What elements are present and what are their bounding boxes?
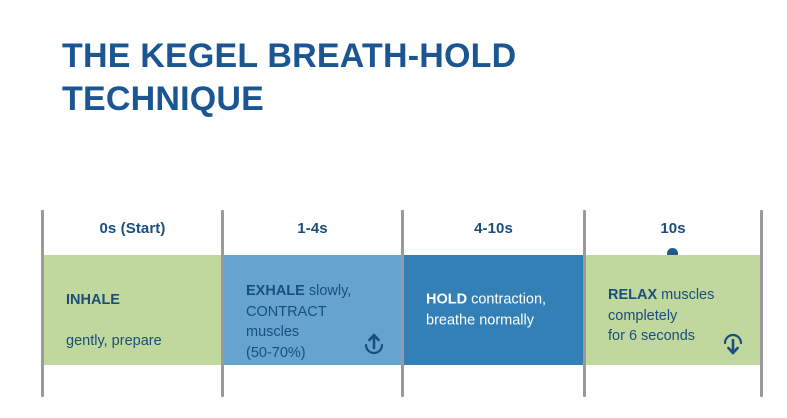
segment-band: HOLD contraction, breathe normally (404, 255, 583, 365)
arrow-down-release-icon (720, 331, 746, 357)
timeline-divider-5 (760, 210, 763, 397)
segment-time-label: 0s (Start) (44, 220, 221, 237)
timeline-segment-inhale[interactable]: 0s (Start) INHALE gently, prepare (44, 210, 221, 397)
segment-band: INHALE gently, prepare (44, 255, 221, 365)
timeline-segment-exhale[interactable]: 1-4s EXHALE slowly, CONTRACT muscles (50… (224, 210, 401, 397)
segment-band: EXHALE slowly, CONTRACT muscles (50-70%) (224, 255, 401, 365)
segment-emphasis: HOLD (426, 291, 467, 307)
timeline: 0s (Start) INHALE gently, prepare 1-4s E… (0, 0, 787, 418)
segment-time-label: 1-4s (224, 220, 401, 237)
segment-body-text: HOLD contraction, breathe normally (426, 289, 569, 330)
segment-time-label: 10s (586, 220, 760, 237)
timeline-segment-relax[interactable]: 10s RELAX muscles completely for 6 secon… (586, 210, 760, 397)
arrow-up-lift-icon (361, 331, 387, 357)
segment-emphasis: RELAX (608, 287, 657, 303)
segment-band: RELAX muscles completely for 6 seconds (586, 255, 760, 365)
segment-body-text: INHALE gently, prepare (66, 269, 207, 351)
segment-time-label: 4-10s (404, 220, 583, 237)
segment-emphasis: EXHALE (246, 283, 305, 299)
segment-emphasis: INHALE (66, 291, 120, 307)
segment-detail: gently, prepare (66, 333, 162, 349)
infographic-canvas: THE KEGEL BREATH-HOLD TECHNIQUE 0s (Star… (0, 0, 787, 418)
timeline-segment-hold[interactable]: 4-10s HOLD contraction, breathe normally (404, 210, 583, 397)
